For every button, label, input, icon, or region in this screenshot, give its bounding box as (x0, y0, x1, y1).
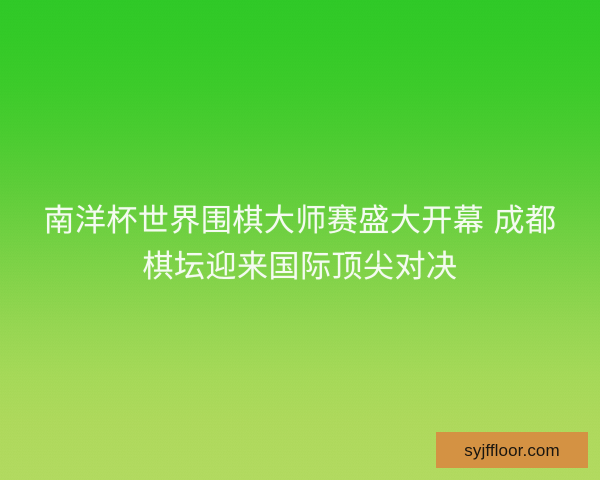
watermark-badge: syjffloor.com (436, 432, 588, 468)
watermark-domain-text: syjffloor.com (464, 442, 559, 459)
banner-headline: 南洋杯世界围棋大师赛盛大开幕 成都棋坛迎来国际顶尖对决 (28, 198, 572, 290)
promo-banner: 南洋杯世界围棋大师赛盛大开幕 成都棋坛迎来国际顶尖对决 syjffloor.co… (0, 0, 600, 480)
